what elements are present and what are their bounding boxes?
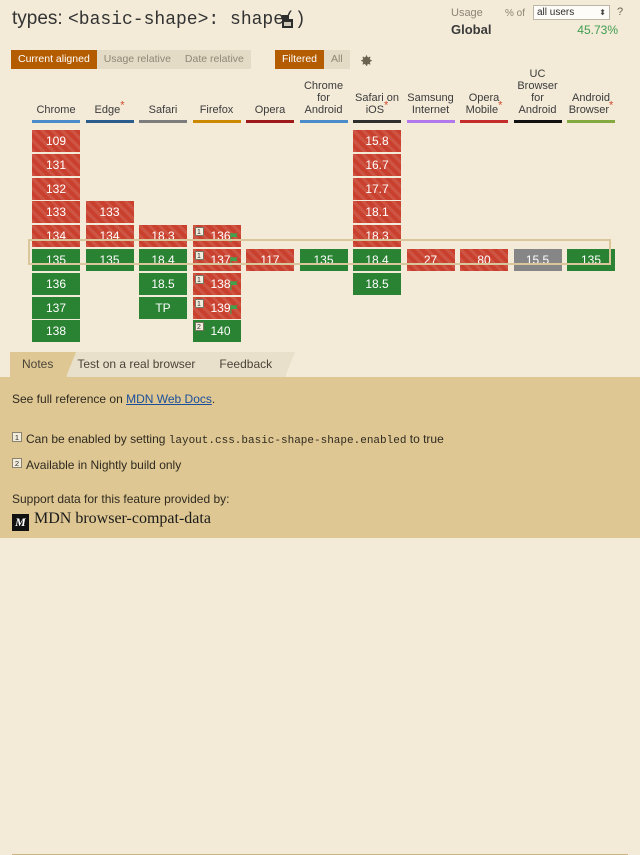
version-cell[interactable]: 18.4 (139, 249, 187, 271)
cell-version-label: 18.3 (365, 229, 388, 243)
version-cell[interactable]: 137 (32, 297, 80, 319)
cell-version-label: 135 (581, 253, 601, 267)
version-cell[interactable]: 135 (32, 249, 80, 271)
cell-version-label: 140 (210, 324, 230, 338)
footnote-2-text-before: Available in Nightly build only (26, 458, 181, 472)
version-cell[interactable]: 136 (32, 273, 80, 295)
column-header-label: UCBrowserforAndroid (517, 68, 557, 116)
mdn-logo-icon: M (12, 514, 29, 531)
cell-version-label: 133 (99, 205, 119, 219)
version-cell[interactable]: 15.5 (514, 249, 562, 271)
column-header-label: Chrome (36, 104, 75, 116)
cell-version-label: 17.7 (365, 182, 388, 196)
cell-footnote-marker: 1 (195, 227, 204, 236)
version-cell[interactable]: 117 (246, 249, 294, 271)
column-color-bar (139, 120, 187, 123)
column-header-label: SamsungInternet (407, 92, 453, 116)
column-color-bar (32, 120, 80, 123)
column-header-android-browser: AndroidBrowser* (563, 92, 619, 116)
footnote-2-marker: 2 (12, 458, 22, 468)
version-cell[interactable]: 134 (86, 225, 134, 247)
column-color-bar (300, 120, 348, 123)
cell-version-label: 16.7 (365, 158, 388, 172)
version-cell[interactable]: 138 (32, 320, 80, 342)
credit-label: Support data for this feature provided b… (12, 492, 229, 506)
filter-buttons: FilteredAll (275, 50, 373, 69)
notes-panel: See full reference on MDN Web Docs. 1Can… (0, 377, 640, 538)
cell-version-label: 137 (46, 301, 66, 315)
version-cell[interactable]: 18.5 (353, 273, 401, 295)
column-header-chrome: Chrome (28, 104, 84, 116)
document-icon[interactable] (282, 15, 293, 28)
column-note-asterisk: * (498, 99, 502, 111)
cell-version-label: 117 (260, 253, 279, 267)
page-header: types: <basic-shape>: shape() Usage Glob… (0, 0, 640, 44)
column-header-label: Opera (255, 104, 286, 116)
cell-version-label: 135 (99, 253, 119, 267)
version-cell[interactable]: 18.3 (353, 225, 401, 247)
version-cell[interactable]: 1138 (193, 273, 241, 295)
column-header-label: Firefox (200, 104, 234, 116)
cell-version-label: 135 (46, 253, 66, 267)
version-cell[interactable]: 133 (32, 201, 80, 223)
page-title-feature: <basic-shape>: shape() (68, 10, 306, 30)
version-cell[interactable]: 2140 (193, 320, 241, 342)
cell-footnote-marker: 1 (195, 275, 204, 284)
column-header-firefox: Firefox (189, 104, 245, 116)
cell-version-label: 136 (46, 277, 66, 291)
cell-footnote-marker: 1 (195, 251, 204, 260)
reference-prefix: See full reference on (12, 392, 126, 406)
column-header-safari-on-ios: Safari oniOS* (349, 92, 405, 116)
version-cell[interactable]: 18.1 (353, 201, 401, 223)
view-mode-button-0[interactable]: Current aligned (11, 50, 97, 69)
version-cell[interactable]: 80 (460, 249, 508, 271)
mdn-web-docs-link[interactable]: MDN Web Docs (126, 392, 212, 406)
version-cell[interactable]: 15.8 (353, 130, 401, 152)
flag-icon (230, 227, 239, 236)
view-mode-button-1[interactable]: Usage relative (97, 50, 178, 69)
tab-notes[interactable]: Notes (10, 352, 67, 377)
browser-support-table: ChromeEdge*SafariFirefoxOperaChromeforAn… (0, 80, 640, 342)
cell-version-label: 18.3 (151, 229, 174, 243)
page-title-prefix: types: (12, 8, 68, 29)
cell-version-label: 15.8 (365, 134, 388, 148)
cell-version-label: 80 (477, 253, 490, 267)
footnote-2: 2Available in Nightly build only (12, 458, 181, 472)
credit-line: MMDN browser-compat-data (12, 510, 211, 531)
version-cell[interactable]: 135 (567, 249, 615, 271)
column-header-uc-browser-for-android: UCBrowserforAndroid (510, 68, 566, 116)
footnote-1-text-after: to true (406, 432, 443, 446)
column-note-asterisk: * (384, 99, 388, 111)
version-cell[interactable]: 18.4 (353, 249, 401, 271)
column-header-opera: Opera (242, 104, 298, 116)
column-color-bar (567, 120, 615, 123)
cell-version-label: TP (155, 301, 170, 315)
tab-label: Feedback (219, 357, 272, 371)
version-cell[interactable]: 18.5 (139, 273, 187, 295)
column-header-opera-mobile: OperaMobile* (456, 92, 512, 116)
cell-version-label: 18.5 (151, 277, 174, 291)
version-cell[interactable]: TP (139, 297, 187, 319)
tab-bar: NotesTest on a real browserFeedback (10, 352, 284, 377)
version-cell[interactable]: 135 (300, 249, 348, 271)
cell-version-label: 139 (210, 301, 230, 315)
column-note-asterisk: * (120, 99, 124, 111)
version-cell[interactable]: 134 (32, 225, 80, 247)
cell-version-label: 138 (46, 324, 66, 338)
footnote-1: 1Can be enabled by setting layout.css.ba… (12, 432, 444, 447)
column-header-chrome-for-android: ChromeforAndroid (296, 80, 352, 116)
gear-icon[interactable] (361, 54, 373, 66)
version-cell[interactable]: 27 (407, 249, 455, 271)
column-header-label: AndroidBrowser (569, 92, 610, 116)
usage-label: Usage (451, 7, 483, 19)
usage-percent-value: 45.73% (577, 23, 618, 37)
column-note-asterisk: * (609, 99, 613, 111)
column-header-label: ChromeforAndroid (304, 80, 343, 116)
help-icon[interactable]: ? (617, 6, 623, 18)
credit-name: MDN browser-compat-data (34, 510, 211, 527)
cell-version-label: 137 (210, 253, 230, 267)
footnote-1-code: layout.css.basic-shape-shape.enabled (169, 435, 407, 447)
view-mode-buttons: Current alignedUsage relativeDate relati… (11, 50, 251, 69)
page-title: types: <basic-shape>: shape() (12, 8, 306, 30)
version-cell[interactable]: 1136 (193, 225, 241, 247)
column-color-bar (246, 120, 294, 123)
tab-label: Test on a real browser (77, 357, 195, 371)
view-mode-button-2[interactable]: Date relative (178, 50, 251, 69)
reference-suffix: . (212, 392, 215, 406)
cell-version-label: 135 (313, 253, 333, 267)
cell-version-label: 18.1 (365, 205, 388, 219)
footnote-1-marker: 1 (12, 432, 22, 442)
column-color-bar (86, 120, 134, 123)
column-color-bar (407, 120, 455, 123)
column-header-samsung-internet: SamsungInternet (403, 92, 459, 116)
cell-version-label: 18.4 (365, 253, 388, 267)
column-color-bar (460, 120, 508, 123)
column-header-label: Edge (95, 104, 121, 116)
cell-version-label: 138 (210, 277, 230, 291)
version-cell[interactable]: 16.7 (353, 154, 401, 176)
cell-version-label: 134 (99, 229, 119, 243)
version-cell[interactable]: 1139 (193, 297, 241, 319)
flag-icon (230, 251, 239, 260)
footnote-1-text-before: Can be enabled by setting (26, 432, 169, 446)
version-cell[interactable]: 131 (32, 154, 80, 176)
column-color-bar (193, 120, 241, 123)
column-color-bar (514, 120, 562, 123)
tab-feedback[interactable]: Feedback (207, 352, 286, 377)
version-cell[interactable]: 1137 (193, 249, 241, 271)
column-header-edge: Edge* (82, 104, 138, 116)
column-header-label: Safari (149, 104, 178, 116)
filter-button-1[interactable]: All (324, 50, 350, 69)
version-cell[interactable]: 133 (86, 201, 134, 223)
chevron-updown-icon: ⬍ (599, 7, 606, 18)
version-cell[interactable]: 132 (32, 178, 80, 200)
usage-panel: Usage Global % of all users ⬍ ? 45.73% (435, 4, 630, 40)
tab-test-on-a-real-browser[interactable]: Test on a real browser (65, 352, 209, 377)
version-cell[interactable]: 18.3 (139, 225, 187, 247)
tab-label: Notes (22, 357, 53, 371)
cell-version-label: 136 (210, 229, 230, 243)
column-header-label: OperaMobile (466, 92, 500, 116)
cell-version-label: 132 (46, 182, 66, 196)
usage-audience-value: all users (537, 7, 574, 18)
filter-button-0[interactable]: Filtered (275, 50, 324, 69)
cell-footnote-marker: 2 (195, 322, 204, 331)
cell-version-label: 133 (46, 205, 66, 219)
flag-icon (230, 299, 239, 308)
version-cell[interactable]: 135 (86, 249, 134, 271)
version-cell[interactable]: 17.7 (353, 178, 401, 200)
usage-scope-label: Global (451, 22, 491, 37)
cell-version-label: 15.5 (526, 253, 549, 267)
flag-icon (230, 275, 239, 284)
cell-version-label: 27 (424, 253, 437, 267)
version-cell[interactable]: 109 (32, 130, 80, 152)
column-header-safari: Safari (135, 104, 191, 116)
cell-version-label: 18.5 (365, 277, 388, 291)
column-header-label: Safari oniOS (355, 92, 399, 116)
reference-line: See full reference on MDN Web Docs. (12, 392, 215, 406)
cell-version-label: 134 (46, 229, 66, 243)
cell-version-label: 18.4 (151, 253, 174, 267)
percent-of-label: % of (505, 8, 525, 19)
cell-footnote-marker: 1 (195, 299, 204, 308)
cell-version-label: 109 (46, 134, 66, 148)
usage-audience-select[interactable]: all users ⬍ (533, 5, 610, 20)
cell-version-label: 131 (46, 158, 66, 172)
column-color-bar (353, 120, 401, 123)
